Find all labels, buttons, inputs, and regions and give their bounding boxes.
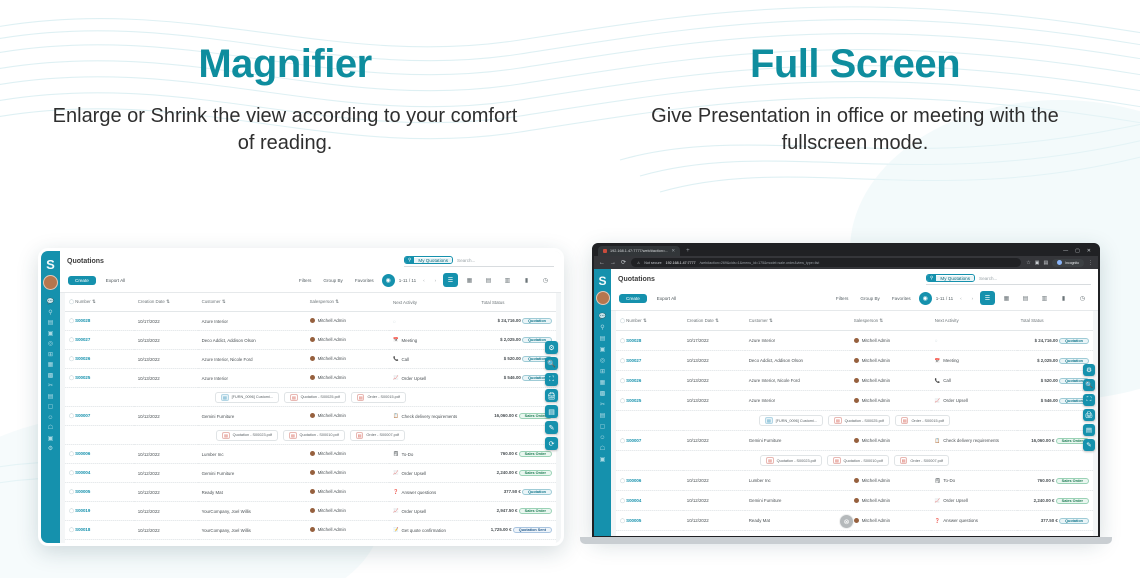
cell-next-activity[interactable]: 📈Order Upsell <box>389 464 477 483</box>
attachment-chip[interactable]: ▤Order - S00007.pdf <box>350 430 405 441</box>
sidebar-item-sales[interactable]: ⊞ <box>48 352 53 358</box>
row-checkbox[interactable]: ◯ <box>69 508 74 513</box>
export-all-button[interactable]: Export All <box>652 294 681 303</box>
cell-number[interactable]: ◯ S00025 <box>65 369 134 388</box>
salesperson-name: Mitchell Admin <box>318 337 346 342</box>
breadcrumb[interactable]: Quotations <box>67 258 104 265</box>
activity-label: Call <box>402 357 410 362</box>
sidebar-item-accounting[interactable]: ▤ <box>48 394 54 400</box>
browser-tab[interactable]: 192.168.1.47:7777/web/#action=... ✕ <box>598 246 680 256</box>
cell-salesperson: Mitchell Admin <box>306 369 389 388</box>
cell-number[interactable]: ◯ S00002 <box>65 540 134 544</box>
cell-next-activity[interactable]: 🗒To-Do <box>931 471 1017 491</box>
cell-salesperson: Mitchell Admin <box>306 407 389 426</box>
table-body-right: ◯ S0002810/17/2022Azure InteriorMitchell… <box>616 331 1093 537</box>
activity-icon: 📈 <box>393 470 398 476</box>
sidebar-item-contacts[interactable]: ▣ <box>600 347 606 353</box>
cell-salesperson: Mitchell Admin <box>850 431 931 451</box>
salesperson-avatar <box>854 398 859 403</box>
feature-title-fullscreen: Full Screen <box>570 42 1140 87</box>
pdf-file-icon: ▤ <box>290 394 298 401</box>
rail-print-button[interactable]: 🖨 <box>1083 409 1095 421</box>
cell-creation-date: 10/12/2022 <box>683 511 745 531</box>
cell-next-activity[interactable]: 📅Meeting <box>931 351 1017 371</box>
app-sidebar-left: S 💬 ⚲ ▤ ▣ ◎ ⊞ ▦ ▩ ✂ ▤ ▢ ☺ ☖ ▣ ⚙ <box>41 251 60 543</box>
cell-salesperson: Mitchell Admin <box>306 540 389 544</box>
row-checkbox[interactable]: ◯ <box>620 478 625 483</box>
cell-total-status: 377.50 € Quotation <box>477 483 556 502</box>
kanban-view-icon[interactable]: ▦ <box>999 291 1014 305</box>
cell-next-activity[interactable]: 📈Order Upsell <box>931 391 1017 411</box>
magnifier-toggle-button[interactable]: ◉ <box>382 274 395 287</box>
table-row[interactable]: ◯ S0000410/12/2022Gemini FurnitureMitche… <box>616 491 1093 511</box>
activity-label: Order Upsell <box>402 509 427 514</box>
cell-next-activity[interactable]: 🗒To-Do <box>389 445 477 464</box>
table-row[interactable]: ◯ S0000510/12/2022Ready MatMitchell Admi… <box>616 511 1093 531</box>
pager-next-button[interactable]: › <box>432 278 439 283</box>
sidebar-item-filter[interactable]: ⚲ <box>48 310 52 316</box>
search-facet[interactable]: ⚲ My Quotations <box>404 256 453 264</box>
sidebar-item-website[interactable]: ▣ <box>600 457 606 463</box>
create-button[interactable]: Create <box>619 294 647 303</box>
sidebar-item-attendance[interactable]: ☖ <box>48 425 53 431</box>
row-checkbox[interactable]: ◯ <box>69 337 74 342</box>
cell-next-activity[interactable]: 📈Order Upsell <box>931 491 1017 511</box>
sidebar-item-calendar[interactable]: ▤ <box>48 320 54 326</box>
rail-export-button[interactable]: ▤ <box>545 405 558 418</box>
column-header-total-status[interactable]: Total Status <box>477 293 556 312</box>
table-row[interactable]: ◯ S0002810/17/2022Azure InteriorMitchell… <box>65 312 556 331</box>
activity-label: Order Upsell <box>943 498 968 503</box>
salesperson-name: Mitchell Admin <box>862 398 890 403</box>
column-header-creation-date[interactable]: Creation Date ⇅ <box>683 311 745 331</box>
column-header-number[interactable]: ◯ Number ⇅ <box>616 311 683 331</box>
cell-next-activity[interactable]: 📞Call <box>931 371 1017 391</box>
activity-icon: 📝 <box>393 527 398 533</box>
sidebar-item-employees[interactable]: ▢ <box>600 424 606 430</box>
sidebar-item-settings[interactable]: ⚙ <box>48 446 53 452</box>
bookmark-star-icon[interactable]: ☆ <box>1026 260 1030 266</box>
kanban-view-icon[interactable]: ▦ <box>462 273 477 287</box>
salesperson-name: Mitchell Admin <box>318 451 346 456</box>
sidebar-item-attendance[interactable]: ☖ <box>600 446 605 452</box>
row-checkbox[interactable]: ◯ <box>69 413 74 418</box>
record-number: S00026 <box>626 378 641 383</box>
sidebar-item-inventory[interactable]: ▦ <box>48 362 54 368</box>
cell-customer: Gemini Furniture <box>198 407 306 426</box>
attachment-chip[interactable]: ▤Quotation - S00025.pdf <box>284 392 346 403</box>
sidebar-item-purchase[interactable]: ▩ <box>600 391 606 397</box>
cell-salesperson: Mitchell Admin <box>850 351 931 371</box>
cell-next-activity[interactable]: 📈Order Upsell <box>389 369 477 388</box>
row-checkbox[interactable]: ◯ <box>620 438 625 443</box>
cell-number[interactable]: ◯ S00006 <box>616 471 683 491</box>
cell-customer: Deco Addict, Addison Olson <box>745 351 850 371</box>
row-checkbox[interactable]: ◯ <box>620 358 625 363</box>
column-header-customer[interactable]: Customer ⇅ <box>745 311 850 331</box>
cell-number[interactable]: ◯ S00004 <box>65 464 134 483</box>
cell-customer: Azure Interior <box>198 369 306 388</box>
rail-fullscreen-button[interactable]: ⛶ <box>1083 394 1095 406</box>
total-amount: $ 546.00 <box>504 375 521 380</box>
attachment-chip[interactable]: ▤Quotation - S00023.pdf <box>760 455 822 466</box>
cell-next-activity[interactable]: 📈Order Upsell <box>931 531 1017 537</box>
cell-creation-date: 10/13/2022 <box>134 331 198 350</box>
cell-next-activity[interactable]: 📋Check delivery requirements <box>389 407 477 426</box>
attachment-chip[interactable]: ▤Quotation - S00010.pdf <box>283 430 345 441</box>
activity-view-icon[interactable]: ◷ <box>538 273 553 287</box>
select-all-checkbox[interactable]: ◯ <box>69 299 74 304</box>
attachment-label: [FURN_0096] Customi... <box>232 395 273 399</box>
favorites-menu[interactable]: Favorites <box>888 295 915 302</box>
rail-zoom-in-button[interactable]: 🔍 <box>1083 379 1095 391</box>
status-badge: Quotation <box>522 318 552 324</box>
attachment-chip[interactable]: ▤Order - S00015.pdf <box>895 415 950 426</box>
sidebar-item-website[interactable]: ▣ <box>48 436 54 442</box>
search-placeholder: Search... <box>457 258 475 263</box>
row-checkbox[interactable]: ◯ <box>69 527 74 532</box>
column-header-number[interactable]: ◯ Number ⇅ <box>65 293 134 312</box>
list-container-right[interactable]: ◯ Number ⇅ Creation Date ⇅ Customer ⇅ Sa… <box>611 311 1098 536</box>
cell-next-activity[interactable]: ◌ <box>931 331 1017 351</box>
sidebar-item-crm[interactable]: ◎ <box>600 358 605 364</box>
record-number: S00028 <box>626 338 641 343</box>
search-input[interactable]: ⚲ My Quotations Search... <box>404 256 554 267</box>
activity-label: Answer questions <box>943 518 978 523</box>
table-row[interactable]: ◯ S0002610/13/2022Azure Interior, Nicole… <box>65 350 556 369</box>
brand-logo-icon[interactable]: S <box>46 258 55 271</box>
cell-total-status: $ 546.00 Quotation <box>1017 391 1093 411</box>
maximize-button[interactable]: ▢ <box>1075 248 1080 254</box>
pdf-file-icon: ▤ <box>289 432 297 439</box>
minimize-button[interactable]: — <box>1063 248 1068 254</box>
rail-fullscreen-button[interactable]: ⛶ <box>545 373 558 386</box>
sidebar-item-accounting[interactable]: ▤ <box>600 413 606 419</box>
cell-customer: Lumber Inc <box>198 445 306 464</box>
list-view-icon[interactable]: ☰ <box>980 291 995 305</box>
salesperson-avatar <box>310 527 315 532</box>
group-by-menu[interactable]: Group By <box>856 295 883 302</box>
app-main-right: Quotations ⚲ My Quotations Search... Cre… <box>611 269 1098 536</box>
avatar[interactable] <box>43 275 58 290</box>
cell-number[interactable]: ◯ S00025 <box>616 391 683 411</box>
pivot-view-icon[interactable]: ▥ <box>1037 291 1052 305</box>
row-checkbox[interactable]: ◯ <box>69 375 74 380</box>
total-amount: 377.50 € <box>504 489 521 494</box>
close-icon[interactable]: ✕ <box>671 248 675 254</box>
row-checkbox[interactable]: ◯ <box>69 318 74 323</box>
row-checkbox[interactable]: ◯ <box>69 451 74 456</box>
row-checkbox[interactable]: ◯ <box>620 498 625 503</box>
table-row[interactable]: ◯ S0001910/12/2022YourCompany, Joel Will… <box>616 531 1093 537</box>
list-view-icon[interactable]: ☰ <box>443 273 458 287</box>
table-row[interactable]: ◯ S0002710/13/2022Deco Addict, Addison O… <box>65 331 556 350</box>
cell-number[interactable]: ◯ S00026 <box>616 371 683 391</box>
cell-creation-date: 10/13/2022 <box>134 369 198 388</box>
cell-creation-date: 10/17/2022 <box>683 331 745 351</box>
cell-customer: Gemini Furniture <box>745 431 850 451</box>
group-by-menu[interactable]: Group By <box>319 277 346 284</box>
image-file-icon: ▤ <box>765 417 773 424</box>
cell-creation-date: 10/12/2022 <box>134 540 198 544</box>
total-amount: $ 520.00 <box>1041 378 1058 383</box>
cell-customer: Deco Addict, Addison Olson <box>198 331 306 350</box>
incognito-badge[interactable]: Incognito <box>1052 259 1084 267</box>
column-header-salesperson[interactable]: Salesperson ⇅ <box>306 293 389 312</box>
overflow-menu-icon[interactable]: ⋮ <box>1088 260 1093 266</box>
salesperson-name: Mitchell Admin <box>862 518 890 523</box>
magnifier-toggle-button[interactable]: ◉ <box>919 292 932 305</box>
column-header-creation-date[interactable]: Creation Date ⇅ <box>134 293 198 312</box>
activity-icon: 📞 <box>393 356 398 362</box>
sidebar-item-crm[interactable]: ◎ <box>48 341 53 347</box>
salesperson-name: Mitchell Admin <box>318 470 346 475</box>
rail-signature-button[interactable]: ✎ <box>545 421 558 434</box>
favicon-icon <box>603 249 607 253</box>
cell-number[interactable]: ◯ S00004 <box>616 491 683 511</box>
pager-next-button[interactable]: › <box>969 296 976 301</box>
table-row[interactable]: ◯ S0002510/13/2022Azure InteriorMitchell… <box>616 391 1093 411</box>
record-number: S00018 <box>75 527 90 532</box>
calendar-view-icon[interactable]: ▤ <box>481 273 496 287</box>
column-header-salesperson[interactable]: Salesperson ⇅ <box>850 311 931 331</box>
activity-icon: 📈 <box>393 375 398 381</box>
table-header-row: ◯ Number ⇅ Creation Date ⇅ Customer ⇅ Sa… <box>65 293 556 312</box>
activity-view-icon[interactable]: ◷ <box>1075 291 1090 305</box>
reload-icon[interactable]: ⟳ <box>621 259 626 266</box>
pivot-view-icon[interactable]: ▥ <box>500 273 515 287</box>
total-amount: 377.50 € <box>1041 518 1058 523</box>
cell-number[interactable]: ◯ S00027 <box>65 331 134 350</box>
cell-number[interactable]: ◯ S00005 <box>616 511 683 531</box>
salesperson-avatar <box>854 438 859 443</box>
search-input[interactable]: ⚲ My Quotations Search... <box>926 274 1091 285</box>
brand-logo-icon[interactable]: S <box>598 275 606 287</box>
filters-menu[interactable]: Filters <box>295 277 316 284</box>
row-checkbox[interactable]: ◯ <box>69 470 74 475</box>
table-row[interactable]: ◯ S0002810/17/2022Azure InteriorMitchell… <box>616 331 1093 351</box>
toolbar-right-group: Filters Group By Favorites ◉ 1-11 / 11 ‹… <box>295 273 553 287</box>
column-header-next-activity[interactable]: Next Activity <box>389 293 477 312</box>
cell-salesperson: Mitchell Admin <box>850 331 931 351</box>
sidebar-item-filter[interactable]: ⚲ <box>600 325 604 331</box>
cell-number[interactable]: ◯ S00018 <box>65 521 134 540</box>
activity-icon: 📈 <box>935 398 940 404</box>
sidebar-item-discuss[interactable]: 💬 <box>47 299 54 305</box>
total-amount: $ 2,025.00 <box>1037 358 1058 363</box>
filter-icon: ⚲ <box>405 257 414 263</box>
cell-number[interactable]: ◯ S00005 <box>65 483 134 502</box>
rail-zoom-in-button[interactable]: 🔍 <box>545 357 558 370</box>
cell-creation-date: 10/12/2022 <box>134 521 198 540</box>
sidebar-item-calendar[interactable]: ▤ <box>600 336 606 342</box>
sidebar-item-manufacturing[interactable]: ✂ <box>48 383 53 389</box>
graph-view-icon[interactable]: ▮ <box>519 273 534 287</box>
cell-number[interactable]: ◯ S00028 <box>65 312 134 331</box>
attachment-chip[interactable]: ▤[FURN_0096] Customi... <box>759 415 823 426</box>
record-number: S00026 <box>75 356 90 361</box>
cell-total-status: 16,060.00 € Sales Order <box>1017 431 1093 451</box>
pager-prev-button[interactable]: ‹ <box>420 278 427 283</box>
cell-salesperson: Mitchell Admin <box>850 371 931 391</box>
salesperson-name: Mitchell Admin <box>862 378 890 383</box>
address-bar[interactable]: ⚠ Not secure 192.168.1.47:7777 /web#acti… <box>631 258 1021 267</box>
list-container-left[interactable]: ◯ Number ⇅ Creation Date ⇅ Customer ⇅ Sa… <box>60 293 561 543</box>
extension-icon[interactable]: ▣ <box>1035 260 1040 266</box>
activity-label: Get quote confirmation <box>402 528 446 533</box>
calendar-view-icon[interactable]: ▤ <box>1018 291 1033 305</box>
select-all-checkbox[interactable]: ◯ <box>620 318 625 323</box>
salesperson-name: Mitchell Admin <box>862 478 890 483</box>
cell-next-activity[interactable]: ◌ <box>389 312 477 331</box>
total-amount: 760.00 € <box>1037 478 1054 483</box>
cell-number[interactable]: ◯ S00028 <box>616 331 683 351</box>
column-header-customer[interactable]: Customer ⇅ <box>198 293 306 312</box>
pdf-file-icon: ▤ <box>222 432 230 439</box>
forward-icon[interactable]: → <box>610 260 616 266</box>
attachment-chips: ▤[FURN_0096] Customi...▤Quotation - S000… <box>616 411 1093 431</box>
rail-print-button[interactable]: 🖨 <box>545 389 558 402</box>
sidebar-item-purchase[interactable]: ▩ <box>48 373 54 379</box>
cell-next-activity[interactable]: 📈Order Upsell <box>389 502 477 521</box>
row-checkbox[interactable]: ◯ <box>620 398 625 403</box>
table-row[interactable]: ◯ S0000610/12/2022Lumber IncMitchell Adm… <box>65 445 556 464</box>
export-all-button[interactable]: Export All <box>101 276 130 285</box>
toolbar-left-group: Create Export All <box>68 276 130 285</box>
table-row[interactable]: ◯ S0000610/12/2022Lumber IncMitchell Adm… <box>616 471 1093 491</box>
table-row[interactable]: ◯ S0001910/12/2022YourCompany, Joel Will… <box>65 502 556 521</box>
not-secure-badge: ⚠ <box>637 261 640 265</box>
salesperson-avatar <box>854 338 859 343</box>
table-row[interactable]: ◯ S0000710/12/2022Gemini FurnitureMitche… <box>65 407 556 426</box>
odoo-app-right: S 💬 ⚲ ▤ ▣ ◎ ⊞ ▦ ▩ ✂ ▤ ▢ ☺ <box>594 269 1098 536</box>
sidebar-item-employees[interactable]: ▢ <box>48 404 54 410</box>
activity-label: Order Upsell <box>402 471 427 476</box>
attachment-chip[interactable]: ▤Order - S00007.pdf <box>894 455 949 466</box>
activity-icon: ❓ <box>393 489 398 495</box>
cell-creation-date: 10/12/2022 <box>134 502 198 521</box>
pager-prev-button[interactable]: ‹ <box>957 296 964 301</box>
cell-number[interactable]: ◯ S00026 <box>65 350 134 369</box>
new-tab-button[interactable]: + <box>683 248 693 254</box>
activity-icon: ❓ <box>935 518 940 524</box>
feature-block-magnifier: Magnifier Enlarge or Shrink the view acc… <box>0 0 570 157</box>
filters-menu[interactable]: Filters <box>832 295 853 302</box>
cell-customer: Azure Interior <box>745 331 850 351</box>
column-header-total-status[interactable]: Total Status <box>1017 311 1093 331</box>
search-facet[interactable]: ⚲ My Quotations <box>926 274 975 282</box>
table-row[interactable]: ◯ S0000710/12/2022Gemini FurnitureMitche… <box>616 431 1093 451</box>
sidebar-item-contacts[interactable]: ▣ <box>48 331 54 337</box>
create-button[interactable]: Create <box>68 276 96 285</box>
cell-salesperson: Mitchell Admin <box>306 521 389 540</box>
avatar[interactable] <box>596 291 610 305</box>
rail-refresh-button[interactable]: ⟳ <box>545 437 558 450</box>
cell-customer: Azure Interior, Nicole Ford <box>745 371 850 391</box>
cell-number[interactable]: ◯ S00007 <box>65 407 134 426</box>
activity-empty-icon[interactable]: ◌ <box>393 319 396 324</box>
close-button[interactable]: ✕ <box>1087 248 1091 254</box>
table-row[interactable]: ◯ S0002610/13/2022Azure Interior, Nicole… <box>616 371 1093 391</box>
graph-view-icon[interactable]: ▮ <box>1056 291 1071 305</box>
row-checkbox[interactable]: ◯ <box>620 518 625 523</box>
cell-next-activity[interactable]: 📈Order Upsell <box>389 540 477 544</box>
attachment-chip[interactable]: ▤Quotation - S00025.pdf <box>828 415 890 426</box>
cell-next-activity[interactable]: 📋Check delivery requirements <box>931 431 1017 451</box>
row-checkbox[interactable]: ◯ <box>620 378 625 383</box>
rail-export-button[interactable]: ▤ <box>1083 424 1095 436</box>
attachment-row: ▤[FURN_0096] Customi...▤Quotation - S000… <box>65 388 556 407</box>
row-checkbox[interactable]: ◯ <box>69 356 74 361</box>
record-number: S00005 <box>626 518 641 523</box>
cell-next-activity[interactable]: 📅Meeting <box>389 331 477 350</box>
attachment-label: Quotation - S00010.pdf <box>300 433 339 437</box>
cell-number[interactable]: ◯ S00019 <box>616 531 683 537</box>
cell-number[interactable]: ◯ S00006 <box>65 445 134 464</box>
back-icon[interactable]: ← <box>599 260 605 266</box>
activity-label: To-Do <box>402 452 414 457</box>
record-number: S00006 <box>626 478 641 483</box>
activity-empty-icon[interactable]: ◌ <box>935 338 938 343</box>
cell-number[interactable]: ◯ S00027 <box>616 351 683 371</box>
table-row[interactable]: ◯ S0002710/13/2022Deco Addict, Addison O… <box>616 351 1093 371</box>
sidebar-item-recruitment[interactable]: ☺ <box>47 415 53 421</box>
breadcrumb[interactable]: Quotations <box>618 276 655 283</box>
table-row[interactable]: ◯ S0002510/13/2022Azure InteriorMitchell… <box>65 369 556 388</box>
table-row[interactable]: ◯ S0001810/12/2022YourCompany, Joel Will… <box>65 521 556 540</box>
attachment-chip[interactable]: ▤Quotation - S00010.pdf <box>827 455 889 466</box>
sidebar-item-manufacturing[interactable]: ✂ <box>600 402 605 408</box>
puzzle-icon[interactable]: ▤ <box>1044 260 1049 266</box>
cell-next-activity[interactable]: 📞Call <box>389 350 477 369</box>
table-row[interactable]: ◯ S0000410/12/2022Gemini FurnitureMitche… <box>65 464 556 483</box>
sidebar-item-inventory[interactable]: ▦ <box>600 380 606 386</box>
rail-signature-button[interactable]: ✎ <box>1083 439 1095 451</box>
row-checkbox[interactable]: ◯ <box>69 489 74 494</box>
cell-customer: Azure Interior, Nicole Ford <box>198 350 306 369</box>
attachment-label: Quotation - S00023.pdf <box>777 459 816 463</box>
attachment-chip[interactable]: ▤[FURN_0096] Customi... <box>215 392 279 403</box>
salesperson-avatar <box>310 318 315 323</box>
sidebar-item-recruitment[interactable]: ☺ <box>599 435 605 441</box>
rail-settings-button[interactable]: ⚙ <box>545 341 558 354</box>
sidebar-item-sales[interactable]: ⊞ <box>600 369 605 375</box>
column-header-next-activity[interactable]: Next Activity <box>931 311 1017 331</box>
attachment-chip[interactable]: ▤Quotation - S00023.pdf <box>216 430 278 441</box>
cell-next-activity[interactable]: ❓Answer questions <box>389 483 477 502</box>
rail-settings-button[interactable]: ⚙ <box>1083 364 1095 376</box>
record-number: S00019 <box>75 508 90 513</box>
cell-salesperson: Mitchell Admin <box>306 502 389 521</box>
salesperson-name: Mitchell Admin <box>318 413 346 418</box>
attachment-label: Quotation - S00023.pdf <box>233 433 272 437</box>
cell-number[interactable]: ◯ S00007 <box>616 431 683 451</box>
total-amount: 760.00 € <box>500 451 517 456</box>
cell-total-status: 2,240.00 € Sales Order <box>477 464 556 483</box>
attachment-chip[interactable]: ▤Order - S00015.pdf <box>351 392 406 403</box>
cell-next-activity[interactable]: ❓Answer questions <box>931 511 1017 531</box>
sidebar-item-discuss[interactable]: 💬 <box>599 314 606 320</box>
activity-label: Meeting <box>402 338 418 343</box>
activity-icon: 📋 <box>393 413 398 419</box>
table-row[interactable]: ◯ S0000210/12/2022Ready MatMitchell Admi… <box>65 540 556 544</box>
favorites-menu[interactable]: Favorites <box>351 277 378 284</box>
activity-label: To-Do <box>943 478 955 483</box>
cell-next-activity[interactable]: 📝Get quote confirmation <box>389 521 477 540</box>
row-checkbox[interactable]: ◯ <box>620 338 625 343</box>
cell-number[interactable]: ◯ S00019 <box>65 502 134 521</box>
table-row[interactable]: ◯ S0000510/12/2022Ready MatMitchell Admi… <box>65 483 556 502</box>
